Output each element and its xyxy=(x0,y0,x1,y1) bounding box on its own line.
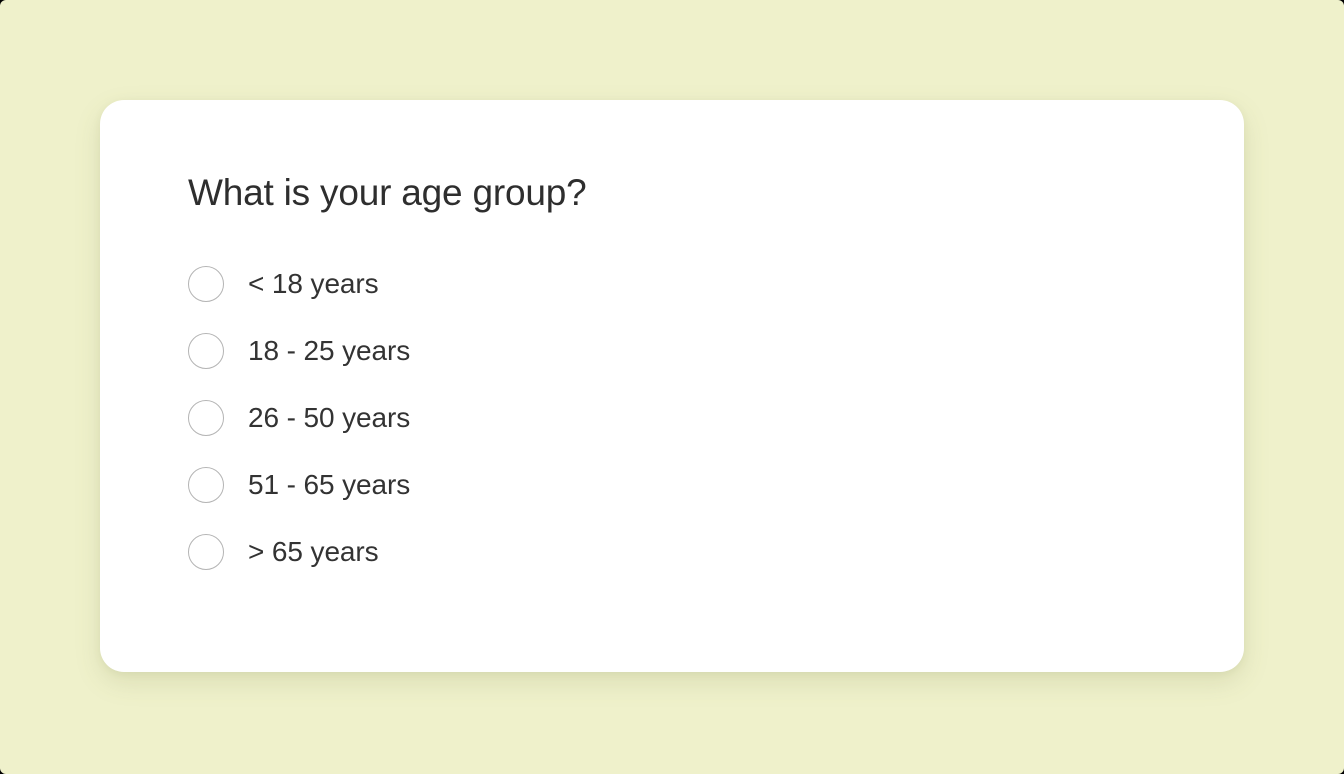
page-root: What is your age group? < 18 years 18 - … xyxy=(0,0,1344,774)
question-card: What is your age group? < 18 years 18 - … xyxy=(100,100,1244,672)
radio-option-label: 18 - 25 years xyxy=(248,337,410,365)
radio-circle-icon[interactable] xyxy=(188,333,224,369)
radio-circle-icon[interactable] xyxy=(188,467,224,503)
radio-option-under-18[interactable]: < 18 years xyxy=(188,251,379,318)
radio-option-over-65[interactable]: > 65 years xyxy=(188,519,379,586)
radio-option-51-65[interactable]: 51 - 65 years xyxy=(188,452,410,519)
radio-option-26-50[interactable]: 26 - 50 years xyxy=(188,385,410,452)
radio-option-label: < 18 years xyxy=(248,270,379,298)
radio-option-label: > 65 years xyxy=(248,538,379,566)
radio-circle-icon[interactable] xyxy=(188,534,224,570)
radio-group: < 18 years 18 - 25 years 26 - 50 years 5… xyxy=(188,251,1244,586)
radio-circle-icon[interactable] xyxy=(188,266,224,302)
radio-option-18-25[interactable]: 18 - 25 years xyxy=(188,318,410,385)
page-title: What is your age group? xyxy=(188,172,1244,215)
radio-circle-icon[interactable] xyxy=(188,400,224,436)
radio-option-label: 26 - 50 years xyxy=(248,404,410,432)
radio-option-label: 51 - 65 years xyxy=(248,471,410,499)
